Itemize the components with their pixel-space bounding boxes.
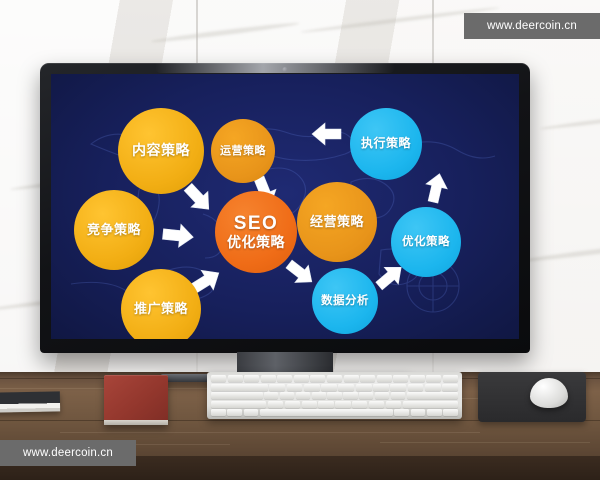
key[interactable] [360, 375, 375, 382]
keyboard[interactable] [207, 372, 462, 419]
key[interactable] [327, 392, 341, 399]
key[interactable] [386, 401, 401, 408]
node-execution-strategy[interactable]: 执行策略 [350, 108, 422, 180]
node-promotion-strategy[interactable]: 推广策略 [121, 269, 201, 339]
key[interactable] [356, 384, 372, 391]
key[interactable] [373, 384, 389, 391]
key[interactable] [393, 375, 408, 382]
bezel-highlight [155, 63, 395, 73]
key-arrow-right[interactable] [443, 409, 458, 416]
key-tab[interactable] [211, 384, 268, 391]
watermark-top-right: www.deercoin.cn [464, 13, 600, 39]
key-cmd[interactable] [244, 409, 259, 416]
key[interactable] [296, 392, 310, 399]
key[interactable] [352, 401, 367, 408]
key-shift-right[interactable] [403, 401, 458, 408]
node-label-primary: SEO [234, 213, 279, 234]
arrow-execution-to-operations [312, 123, 341, 145]
monitor-bezel: 内容策略 竞争策略 推广策略 运营策略 SEO 优化策略 经营策略 [40, 63, 530, 353]
key[interactable] [344, 375, 359, 382]
wall-vein [150, 21, 299, 44]
key-alt[interactable] [227, 409, 242, 416]
node-label: 推广策略 [134, 302, 188, 317]
key[interactable] [312, 392, 326, 399]
key[interactable] [261, 375, 276, 382]
key[interactable] [343, 392, 357, 399]
key[interactable] [410, 375, 425, 382]
node-label: 数据分析 [321, 295, 369, 308]
node-label-secondary: 优化策略 [227, 235, 285, 251]
wall-vein [520, 241, 600, 263]
key[interactable] [318, 401, 333, 408]
keyboard-row[interactable] [211, 401, 458, 408]
key-arrow-left[interactable] [427, 409, 442, 416]
node-optimization-strategy[interactable]: 优化策略 [391, 207, 461, 277]
key-shift[interactable] [211, 401, 266, 408]
monitor-screen[interactable]: 内容策略 竞争策略 推广策略 运营策略 SEO 优化策略 经营策略 [51, 74, 519, 339]
key[interactable] [391, 392, 405, 399]
node-label: 优化策略 [402, 236, 450, 249]
key[interactable] [211, 375, 226, 382]
key[interactable] [294, 375, 309, 382]
key[interactable] [442, 384, 458, 391]
key-enter[interactable] [407, 392, 459, 399]
key[interactable] [277, 375, 292, 382]
key[interactable] [327, 375, 342, 382]
key[interactable] [338, 384, 354, 391]
key[interactable] [425, 384, 441, 391]
node-label: 内容策略 [132, 143, 190, 159]
key[interactable] [228, 375, 243, 382]
key-ctrl[interactable] [211, 409, 226, 416]
key[interactable] [302, 401, 317, 408]
keyboard-row[interactable] [211, 375, 458, 382]
key[interactable] [408, 384, 424, 391]
key[interactable] [287, 384, 303, 391]
watermark-bottom-left: www.deercoin.cn [0, 440, 136, 466]
key[interactable] [269, 384, 285, 391]
key[interactable] [321, 384, 337, 391]
key[interactable] [310, 375, 325, 382]
node-label: 运营策略 [220, 145, 266, 157]
key-caps[interactable] [211, 392, 263, 399]
key[interactable] [390, 384, 406, 391]
key[interactable] [335, 401, 350, 408]
keyboard-row[interactable] [211, 392, 458, 399]
arrow-center-to-analytics [282, 255, 318, 290]
node-label: 竞争策略 [87, 223, 141, 238]
arrow-optimize-to-execution [422, 171, 450, 204]
wall-vein [540, 113, 600, 130]
screenshot-scene: 内容策略 竞争策略 推广策略 运营策略 SEO 优化策略 经营策略 [0, 0, 600, 480]
key[interactable] [268, 401, 283, 408]
node-data-analytics[interactable]: 数据分析 [312, 268, 378, 334]
node-label: 经营策略 [310, 215, 364, 230]
node-label: 执行策略 [361, 137, 411, 150]
key[interactable] [244, 375, 259, 382]
node-seo-center[interactable]: SEO 优化策略 [215, 191, 297, 273]
monitor: 内容策略 竞争策略 推广策略 运营策略 SEO 优化策略 经营策略 [40, 63, 530, 353]
node-operations-strategy[interactable]: 运营策略 [211, 119, 275, 183]
node-business-strategy[interactable]: 经营策略 [297, 182, 377, 262]
key-alt-right[interactable] [411, 409, 426, 416]
mouse[interactable] [530, 378, 568, 408]
book-left[interactable] [0, 391, 60, 412]
key[interactable] [426, 375, 441, 382]
key-space[interactable] [260, 409, 393, 416]
desk-grain [60, 432, 480, 433]
key[interactable] [359, 392, 373, 399]
desk-grain [380, 442, 590, 443]
key-cmd-right[interactable] [394, 409, 409, 416]
node-competition-strategy[interactable]: 竞争策略 [74, 190, 154, 270]
keyboard-row[interactable] [211, 409, 458, 416]
key[interactable] [280, 392, 294, 399]
key[interactable] [264, 392, 278, 399]
arrow-competition-to-center [162, 223, 195, 249]
node-content-strategy[interactable]: 内容策略 [118, 108, 204, 194]
key[interactable] [369, 401, 384, 408]
notebook-red[interactable] [104, 375, 168, 425]
keyboard-row[interactable] [211, 384, 458, 391]
key[interactable] [443, 375, 458, 382]
key[interactable] [304, 384, 320, 391]
key[interactable] [377, 375, 392, 382]
key[interactable] [285, 401, 300, 408]
key[interactable] [375, 392, 389, 399]
